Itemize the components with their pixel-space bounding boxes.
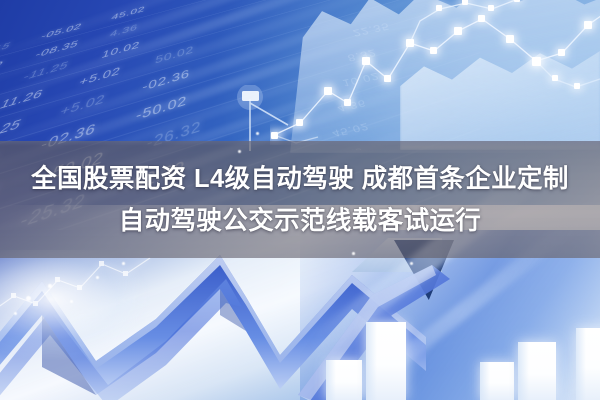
- sparkle-dot: [352, 252, 355, 255]
- sparkle-dot: [122, 262, 125, 265]
- sparkle-dot: [96, 276, 99, 279]
- headline-line-2: 自动驾驶公交示范线载客试运行: [119, 201, 482, 241]
- secondary-line-chart: [0, 252, 152, 322]
- band-top-fade: [0, 141, 600, 146]
- bar-1: [326, 360, 362, 400]
- banner-image: 21.15-05.0245.02-09.02-08.354.36-08.36-1…: [0, 0, 600, 400]
- sparkle-dot: [70, 300, 73, 303]
- bar-2: [366, 322, 406, 400]
- headline-line-1: 全国股票配资 L4级自动驾驶 成都首条企业定制: [31, 159, 569, 199]
- headline-block: 全国股票配资 L4级自动驾驶 成都首条企业定制 自动驾驶公交示范线载客试运行: [0, 148, 600, 252]
- sparkle-dot: [26, 296, 31, 301]
- bar-5: [576, 328, 600, 400]
- bar-4: [518, 342, 556, 400]
- white-bar-chart: [320, 265, 600, 400]
- glow-line-chart: [270, 0, 600, 145]
- sparkle-dot: [48, 284, 52, 288]
- bar-3: [480, 362, 514, 400]
- sparkle-dot: [256, 132, 259, 135]
